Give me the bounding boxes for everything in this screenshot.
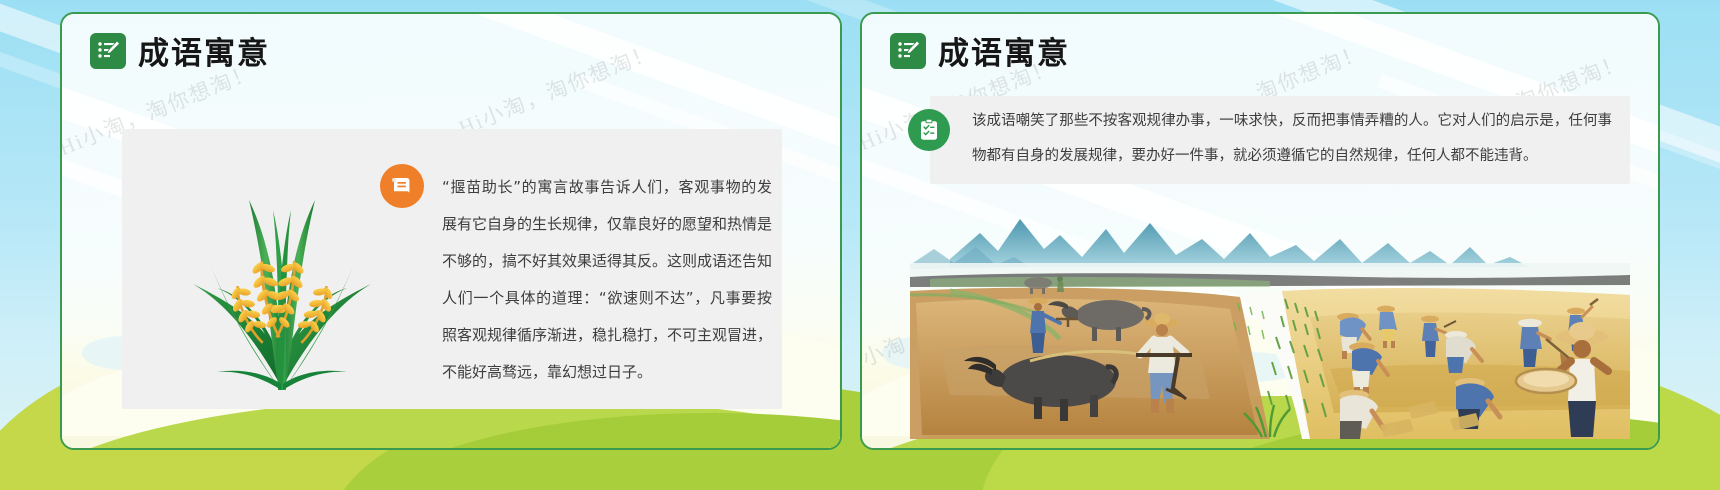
left-paragraph: “揠苗助长”的寓言故事告诉人们，客观事物的发展有它自身的生长规律，仅靠良好的愿望… <box>442 169 772 391</box>
slide-title-text: 成语寓意 <box>138 28 270 73</box>
list-edit-icon <box>90 33 126 69</box>
right-paragraph: 该成语嘲笑了那些不按客观规律办事，一味求快，反而把事情弄糟的人。它对人们的启示是… <box>972 104 1612 174</box>
content-box-right: 该成语嘲笑了那些不按客观规律办事，一味求快，反而把事情弄糟的人。它对人们的启示是… <box>930 96 1630 184</box>
rice-plant-illustration <box>187 192 377 392</box>
slide-title-text: 成语寓意 <box>938 28 1070 73</box>
book-icon <box>380 164 424 208</box>
clipboard-check-icon <box>908 109 950 151</box>
slide-panel-right: Hi小淘，淘你想淘！ Hi小淘，淘你想淘！ Hi小淘，淘你想淘！ Hi小淘，淘你… <box>860 12 1660 450</box>
list-edit-icon <box>890 33 926 69</box>
slide-title-right: 成语寓意 <box>890 28 1070 73</box>
slide-panel-left: Hi小淘，淘你想淘！ Hi小淘，淘你想淘！ Hi小淘，淘你想淘！ Hi小淘，淘你… <box>60 12 842 450</box>
far-buffalo <box>1024 276 1064 294</box>
farming-scene-illustration <box>910 199 1630 439</box>
slide-title-left: 成语寓意 <box>90 28 270 73</box>
